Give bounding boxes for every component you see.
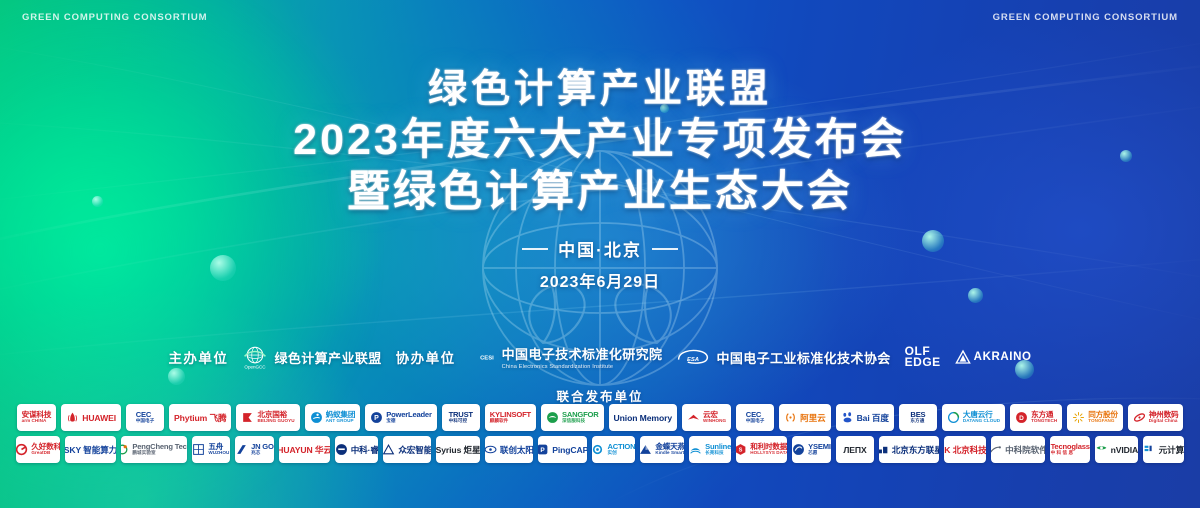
partner-logo-text: 金蝶天燕Kindle Smart: [655, 443, 684, 456]
partner-logo-text: KYLINSOFT麒麟软件: [490, 411, 531, 424]
partner-logo-secondary: arm CHINA: [22, 419, 52, 424]
partner-logo-primary: HUAYUN 华云: [279, 445, 330, 455]
circle-icon: [947, 411, 960, 424]
lf-edge-wordmark: OLF EDGE: [905, 346, 941, 369]
logo-row-2: 久好数科GreatDBSKY 智能算力PengCheng Tech鹏城实验室五舟…: [0, 436, 1200, 463]
partner-logo[interactable]: 蚂蚁集团ANT GROUP: [305, 404, 361, 431]
partner-logo-text: CEC中国电子: [746, 411, 765, 424]
partner-logo[interactable]: HUAYUN 华云: [279, 436, 330, 463]
partner-logo-text: 五舟WUZHOU: [208, 443, 229, 456]
partner-logo-secondary: 中国电子: [136, 419, 155, 424]
partner-logo-text: Union Memory: [614, 409, 672, 426]
host-label: 主办单位: [168, 347, 228, 367]
partner-logo[interactable]: 五舟WUZHOU: [192, 436, 230, 463]
partner-logo-primary: 众宏智能: [398, 445, 431, 455]
gear-icon: [592, 443, 605, 456]
event-banner: GREEN COMPUTING CONSORTIUM GREEN COMPUTI…: [0, 0, 1200, 508]
partner-logo-secondary: WUZHOU: [208, 451, 229, 456]
oval-icon: [485, 443, 497, 456]
svg-text:ESA: ESA: [687, 357, 699, 363]
partner-logo-text: SANGFOR深信服科技: [562, 411, 599, 424]
partner-logo-primary: 元计算: [1159, 445, 1184, 455]
partner-logo[interactable]: ЛЕПХ: [836, 436, 874, 463]
partner-logo[interactable]: 久好数科GreatDB: [16, 436, 60, 463]
baidu-icon: [841, 411, 854, 424]
partner-logo[interactable]: 北京东方联星: [879, 436, 939, 463]
partner-logo-primary: 中科·睿: [351, 445, 379, 455]
lf-edge-logo: OLF EDGE: [905, 346, 941, 369]
partner-logo-primary: 联创太阳: [500, 445, 533, 455]
huawei-icon: [66, 411, 79, 424]
partner-logo-primary: ЛЕПХ: [843, 445, 866, 455]
partner-logo-secondary: 长亮科技: [705, 451, 731, 456]
partner-logo-primary: PingCAP: [552, 445, 587, 455]
partner-logo[interactable]: Union Memory: [609, 404, 677, 431]
swoosh-icon: [991, 443, 1002, 456]
partner-logo-text: HUAYUN 华云: [279, 441, 330, 458]
partner-logo-secondary: WINHONG: [703, 419, 726, 424]
partner-logo-secondary: 兆芯: [251, 451, 274, 456]
partner-logo-secondary: TONGTECH: [1031, 419, 1057, 424]
pl-icon: P: [370, 411, 383, 424]
ping-icon: P: [538, 443, 550, 456]
esa-logo-icon: ESA: [676, 344, 710, 370]
partner-logo-primary: Union Memory: [614, 413, 672, 423]
event-date: 2023年6月29日: [0, 268, 1200, 292]
partner-logo-text: Tecnoglass中 科 信 息: [1051, 443, 1090, 456]
host-organization-name: 绿色计算产业联盟: [274, 348, 381, 367]
coorganizer-label: 协办单位: [396, 347, 456, 367]
flag-icon: [241, 411, 254, 424]
partner-logo-text: TRUST中科可控: [449, 411, 473, 424]
corner-wordmark-left: GREEN COMPUTING CONSORTIUM: [22, 12, 207, 23]
partner-logo-text: ЛЕПХ: [843, 441, 866, 458]
partner-logo[interactable]: 阿里云: [779, 404, 830, 431]
partner-logo[interactable]: 安谋科技arm CHINA: [17, 404, 57, 431]
tong-icon: D: [1015, 411, 1028, 424]
partner-logo-text: Bai 百度: [857, 409, 889, 426]
ecal-icon: [1143, 443, 1156, 456]
partner-logo-primary: nVIDIA: [1111, 445, 1138, 455]
akraino-triangle-icon: [955, 349, 971, 365]
partner-logo-secondary: 芯愿: [808, 451, 831, 456]
partner-logo-secondary: Digital China: [1149, 419, 1179, 424]
svg-text:P: P: [374, 415, 379, 422]
joint-publishers-logos: 安谋科技arm CHINAHUAWEICEC中国电子Phytium 飞腾北京国裕…: [0, 404, 1200, 468]
partner-logo-text: 同方股份TONGFANG: [1088, 411, 1118, 424]
dash-left-icon: [522, 248, 548, 250]
partner-logo-secondary: TONGFANG: [1088, 419, 1118, 424]
partner-logo[interactable]: 中科·睿: [335, 436, 378, 463]
partner-logo-secondary: ANT GROUP: [326, 419, 356, 424]
partner-logo-text: 东方通TONGTECH: [1031, 411, 1057, 424]
ali-icon: [784, 411, 797, 424]
partner-logo-primary: Phytium 飞腾: [174, 413, 226, 423]
partner-logo[interactable]: SKY 智能算力: [65, 436, 115, 463]
partner-logo[interactable]: TRUST中科可控: [442, 404, 480, 431]
partner-logo-primary: SKY 智能算力: [65, 445, 115, 455]
cesi-logo-icon: CESI: [470, 344, 496, 370]
partner-logo-primary: K 北京科技: [944, 445, 986, 455]
lf-edge-line-2: EDGE: [905, 357, 941, 368]
partner-logo[interactable]: 神州数码Digital China: [1128, 404, 1184, 431]
partner-logo-text: 元计算: [1159, 441, 1184, 458]
partner-logo[interactable]: CEC中国电子: [126, 404, 164, 431]
nvidia-icon: [1095, 443, 1108, 456]
tri-icon: [383, 443, 395, 456]
partner-logo[interactable]: 联创太阳: [485, 436, 533, 463]
partner-logo-text: BES东方通: [910, 411, 925, 424]
partner-logo-secondary: BEIJING GUOYU: [257, 419, 294, 424]
svg-text:P: P: [541, 447, 546, 454]
partner-logo-text: YSEMI芯愿: [808, 443, 831, 456]
dot2-icon: [335, 443, 348, 456]
partner-logo[interactable]: JN GO兆芯: [235, 436, 274, 463]
partner-logo[interactable]: Sunline长亮科技: [689, 436, 731, 463]
partner-logo-text: Sunline长亮科技: [705, 443, 731, 456]
partner-logo[interactable]: 众宏智能: [383, 436, 431, 463]
partner-logo[interactable]: Bai 百度: [836, 404, 894, 431]
svg-text:CESI: CESI: [480, 356, 494, 362]
ant-icon: [310, 411, 323, 424]
partner-logo-text: PingCAP: [552, 441, 587, 458]
star-icon: [1072, 411, 1085, 424]
opengcc-logo-icon: OpenGCC: [242, 344, 268, 370]
partner-logo-primary: 阿里云: [800, 413, 825, 423]
title-line-3: 暨绿色计算产业生态大会: [0, 166, 1200, 218]
partner-logo-text: K 北京科技: [944, 441, 986, 458]
partner-logo-text: 和利时数据HOLLYSYS DATA: [750, 443, 787, 456]
partner-logo[interactable]: D东方通TONGTECH: [1010, 404, 1062, 431]
subtitle-block: 中国·北京 2023年6月29日: [0, 236, 1200, 292]
partner-logo-secondary: 深信服科技: [562, 419, 599, 424]
host-organization: OpenGCC 绿色计算产业联盟: [242, 344, 381, 370]
arrow-icon: [235, 443, 248, 456]
akraino-wordmark: AKRAINO: [974, 351, 1032, 363]
coorganizer-cesi: CESI 中国电子技术标准化研究院 China Electronics Stan…: [470, 344, 663, 370]
partner-logo-secondary: 中科可控: [449, 419, 473, 424]
partner-logo-primary: 北京东方联星: [892, 445, 940, 455]
sangfor-icon: [546, 411, 559, 424]
partner-logo-text: HUAWEI: [82, 409, 116, 426]
partner-logo-primary: Bai 百度: [857, 413, 889, 423]
partner-logo[interactable]: ACTION实创: [592, 436, 635, 463]
title-line-1: 绿色计算产业联盟: [0, 66, 1200, 114]
partner-logo[interactable]: Phytium 飞腾: [169, 404, 231, 431]
partner-logo[interactable]: PengCheng Tech鹏城实验室: [121, 436, 187, 463]
partner-logo-secondary: 东方通: [910, 419, 925, 424]
partner-logo-primary: HUAWEI: [82, 413, 116, 423]
partner-logo[interactable]: SANGFOR深信服科技: [541, 404, 604, 431]
partner-logo-text: nVIDIA: [1111, 441, 1138, 458]
coorganizer-cesi-name: 中国电子技术标准化研究院 China Electronics Standardi…: [502, 344, 663, 370]
partner-logo-text: 安谋科技arm CHINA: [22, 411, 52, 424]
partner-logo-secondary: GreatDB: [31, 451, 60, 456]
partner-logo-text: 久好数科GreatDB: [31, 443, 60, 456]
partner-logo[interactable]: K 北京科技: [944, 436, 986, 463]
partner-logo-secondary: 中 科 信 息: [1051, 451, 1090, 456]
coorganizer-esa: ESA 中国电子工业标准化技术协会: [676, 344, 890, 370]
partner-logo[interactable]: 中科院软件: [991, 436, 1045, 463]
partner-logo-text: PengCheng Tech鹏城实验室: [132, 443, 186, 456]
mtn-icon: [640, 443, 652, 456]
partner-logo-text: PowerLeader宝德: [386, 411, 432, 424]
wing-icon: [687, 411, 700, 424]
partner-logo-text: Phytium 飞腾: [174, 409, 226, 426]
partner-logo-text: 北京东方联星: [892, 441, 940, 458]
logo-row-1: 安谋科技arm CHINAHUAWEICEC中国电子Phytium 飞腾北京国裕…: [0, 404, 1200, 431]
akraino-logo: AKRAINO: [955, 349, 1032, 365]
ring2-icon: [121, 443, 130, 456]
partner-logo-text: 神州数码Digital China: [1149, 411, 1179, 424]
partner-logo-text: 大唐云行DATANG CLOUD: [963, 411, 1000, 424]
svg-text:OpenGCC: OpenGCC: [245, 365, 267, 370]
ysemi-icon: [792, 443, 805, 456]
partner-logo-text: CEC中国电子: [136, 411, 155, 424]
partner-logo-secondary: 实创: [607, 451, 635, 456]
organizers-row: 主办单位 OpenGCC 绿色计算产业联盟 协办单位 CESI: [0, 344, 1200, 370]
partner-logo[interactable]: KYLINSOFT麒麟软件: [485, 404, 536, 431]
partner-logo[interactable]: 大唐云行DATANG CLOUD: [942, 404, 1005, 431]
partner-logo[interactable]: HUAWEI: [61, 404, 121, 431]
partner-logo-primary: 中科院软件: [1005, 445, 1045, 455]
partner-logo[interactable]: YSEMI芯愿: [792, 436, 831, 463]
partner-logo-text: 中科·睿: [351, 441, 379, 458]
svg-text:D: D: [1019, 415, 1024, 422]
title-block: 绿色计算产业联盟 2023年度六大产业专项发布会 暨绿色计算产业生态大会 中国·…: [0, 66, 1200, 292]
event-location: 中国·北京: [522, 236, 678, 261]
partner-logo-text: Syrius 炬星: [436, 441, 480, 458]
swirl-icon: [1133, 411, 1146, 424]
partner-logo-secondary: 鹏城实验室: [132, 451, 186, 456]
partner-logo[interactable]: 同方股份TONGFANG: [1067, 404, 1123, 431]
partner-logo-text: 蚂蚁集团ANT GROUP: [326, 411, 356, 424]
corner-wordmark-right: GREEN COMPUTING CONSORTIUM: [993, 12, 1178, 23]
wave-icon: [689, 443, 702, 456]
partner-logo-primary: Syrius 炬星: [436, 445, 480, 455]
partner-logo-secondary: 中国电子: [746, 419, 765, 424]
partner-logo[interactable]: CEC中国电子: [736, 404, 774, 431]
partner-logo[interactable]: BES东方通: [899, 404, 937, 431]
partner-logo[interactable]: Tecnoglass中 科 信 息: [1050, 436, 1090, 463]
partner-logo-secondary: DATANG CLOUD: [963, 419, 1000, 424]
partner-logo[interactable]: 北京国裕BEIJING GUOYU: [236, 404, 299, 431]
hex-icon: S: [736, 443, 747, 456]
partner-logo-secondary: Kindle Smart: [655, 451, 684, 456]
bars-icon: [879, 443, 889, 456]
partner-logo-text: 联创太阳: [500, 441, 533, 458]
joint-publishers-title: 联合发布单位: [0, 386, 1200, 405]
partner-logo[interactable]: S和利时数据HOLLYSYS DATA: [736, 436, 787, 463]
partner-logo-text: 北京国裕BEIJING GUOYU: [257, 411, 294, 424]
partner-logo[interactable]: PPingCAP: [538, 436, 587, 463]
partner-logo[interactable]: 云宏WINHONG: [682, 404, 731, 431]
partner-logo-text: 云宏WINHONG: [703, 411, 726, 424]
title-line-2: 2023年度六大产业专项发布会: [0, 114, 1200, 166]
partner-logo-text: JN GO兆芯: [251, 443, 274, 456]
grid-icon: [192, 443, 205, 456]
partner-logo[interactable]: Syrius 炬星: [436, 436, 480, 463]
partner-logo-secondary: HOLLYSYS DATA: [750, 451, 787, 456]
partner-logo[interactable]: 元计算: [1143, 436, 1184, 463]
partner-logo-text: 众宏智能: [398, 441, 431, 458]
ring-icon: [16, 443, 28, 456]
partner-logo-secondary: 宝德: [386, 419, 432, 424]
partner-logo-secondary: 麒麟软件: [490, 419, 531, 424]
partner-logo-text: 中科院软件: [1005, 441, 1045, 458]
partner-logo-text: 阿里云: [800, 409, 825, 426]
partner-logo[interactable]: PPowerLeader宝德: [365, 404, 437, 431]
partner-logo[interactable]: 金蝶天燕Kindle Smart: [640, 436, 684, 463]
decor-dot: [168, 368, 185, 385]
svg-text:S: S: [739, 448, 743, 454]
partner-logo-text: SKY 智能算力: [65, 441, 115, 458]
partner-logo-text: ACTION实创: [607, 443, 635, 456]
dash-right-icon: [652, 248, 678, 250]
partner-logo[interactable]: nVIDIA: [1095, 436, 1138, 463]
event-location-text: 中国·北京: [558, 236, 642, 261]
coorganizer-esa-name: 中国电子工业标准化技术协会: [716, 348, 890, 367]
